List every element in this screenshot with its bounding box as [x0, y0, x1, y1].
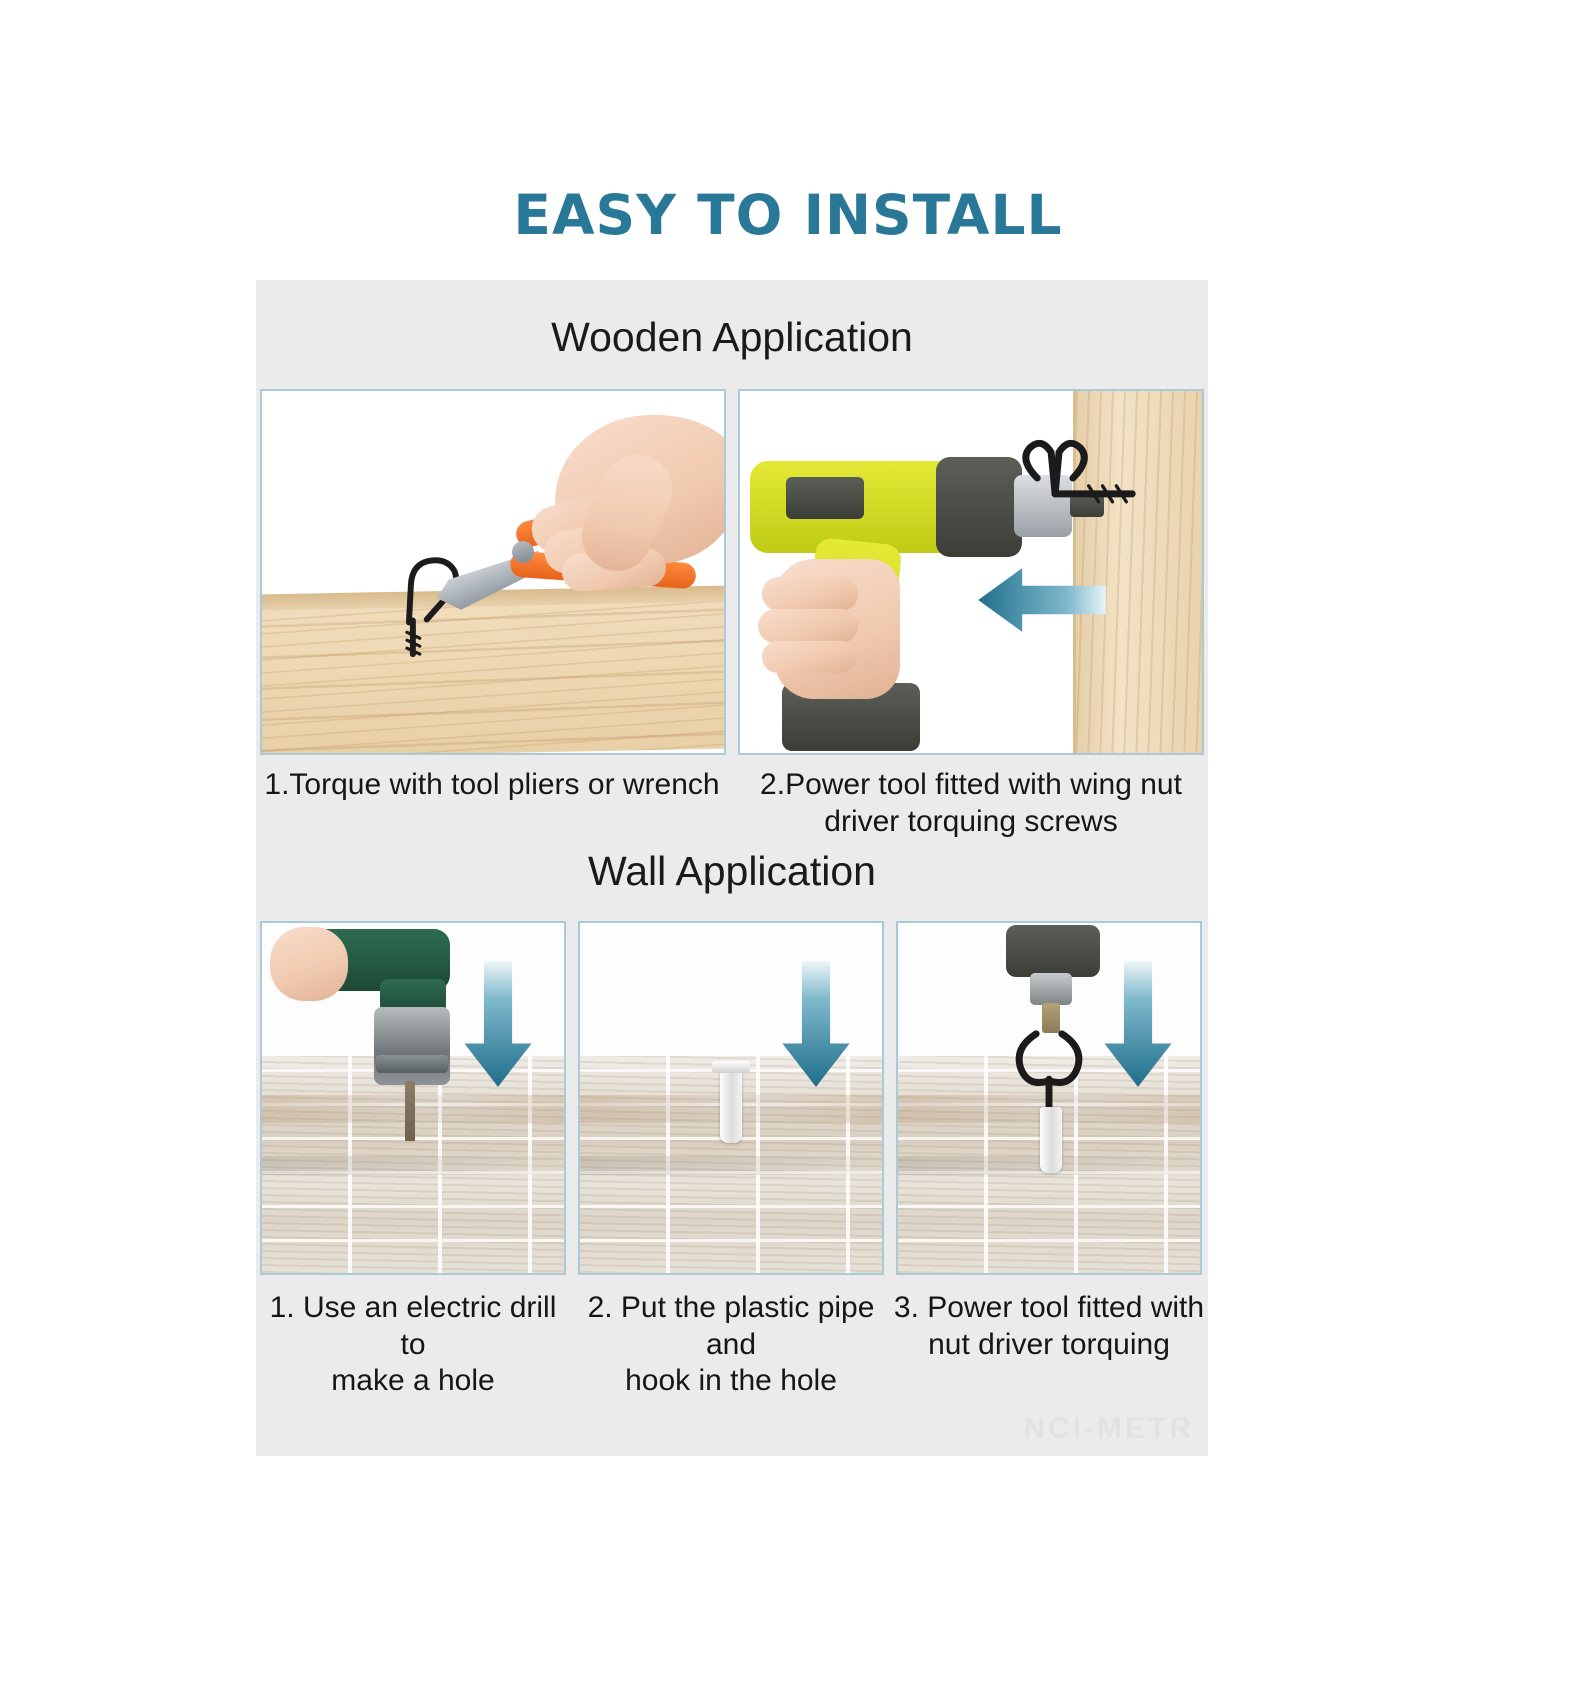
caption-line-2: driver torquing screws	[734, 804, 1208, 841]
scene-plastic-anchor-in-wall	[580, 923, 882, 1273]
pliers-pivot	[512, 541, 534, 563]
brick-tone-band-b	[262, 1156, 564, 1176]
drill-bit	[405, 1081, 415, 1141]
section-heading-wall: Wall Application	[256, 848, 1208, 895]
content-panel: Wooden Application	[256, 280, 1208, 1456]
infographic-page: EASY TO INSTALL Wooden Application	[0, 0, 1576, 1704]
arrow-down-icon	[778, 959, 854, 1089]
watermark: NCI-METR	[1023, 1412, 1194, 1446]
image-card-wooden-step-2	[738, 389, 1204, 755]
image-card-wall-step-3	[896, 921, 1202, 1275]
caption-line-2: make a hole	[256, 1363, 570, 1400]
image-card-wall-step-1	[260, 921, 566, 1275]
plastic-anchor	[720, 1065, 742, 1143]
caption-line-2: hook in the hole	[574, 1363, 888, 1400]
caption-wall-step-3: 3. Power tool fitted with nut driver tor…	[892, 1290, 1206, 1363]
caption-wooden-step-2: 2.Power tool fitted with wing nut driver…	[734, 767, 1208, 840]
caption-wall-step-2: 2. Put the plastic pipe and hook in the …	[574, 1290, 888, 1400]
section-heading-wooden: Wooden Application	[256, 314, 1208, 361]
page-title: EASY TO INSTALL	[0, 183, 1576, 247]
caption-line-1: 1. Use an electric drill to	[256, 1290, 570, 1363]
scene-hand-pliers-hook-in-wood	[262, 391, 724, 753]
image-card-wooden-step-1	[260, 389, 726, 755]
caption-wooden-step-1: 1.Torque with tool pliers or wrench	[256, 767, 728, 804]
arrow-left-icon	[976, 561, 1108, 639]
arrow-down-icon	[1100, 959, 1176, 1089]
caption-line-1: 2.Power tool fitted with wing nut	[734, 767, 1208, 804]
scene-electric-drill-brick-wall	[262, 923, 564, 1273]
image-card-wall-step-2	[578, 921, 884, 1275]
caption-line-2: nut driver torquing	[892, 1327, 1206, 1364]
wing-nut-hook-screw-icon	[740, 391, 1202, 753]
scene-power-drill-wing-nut-driver-into-wood	[740, 391, 1202, 753]
drill-chuck-ring	[376, 1055, 448, 1073]
caption-wall-step-1: 1. Use an electric drill to make a hole	[256, 1290, 570, 1400]
scene-power-tool-nut-driver-hook	[898, 923, 1200, 1273]
drill-chuck	[374, 1007, 450, 1085]
hand	[270, 927, 348, 1001]
plastic-anchor-collar	[712, 1061, 750, 1073]
caption-line-1: 3. Power tool fitted with	[892, 1290, 1206, 1327]
brick-tone-band-b	[580, 1156, 882, 1176]
plastic-anchor	[1040, 1107, 1062, 1173]
arrow-down-icon	[460, 959, 536, 1089]
caption-line-1: 2. Put the plastic pipe and	[574, 1290, 888, 1363]
